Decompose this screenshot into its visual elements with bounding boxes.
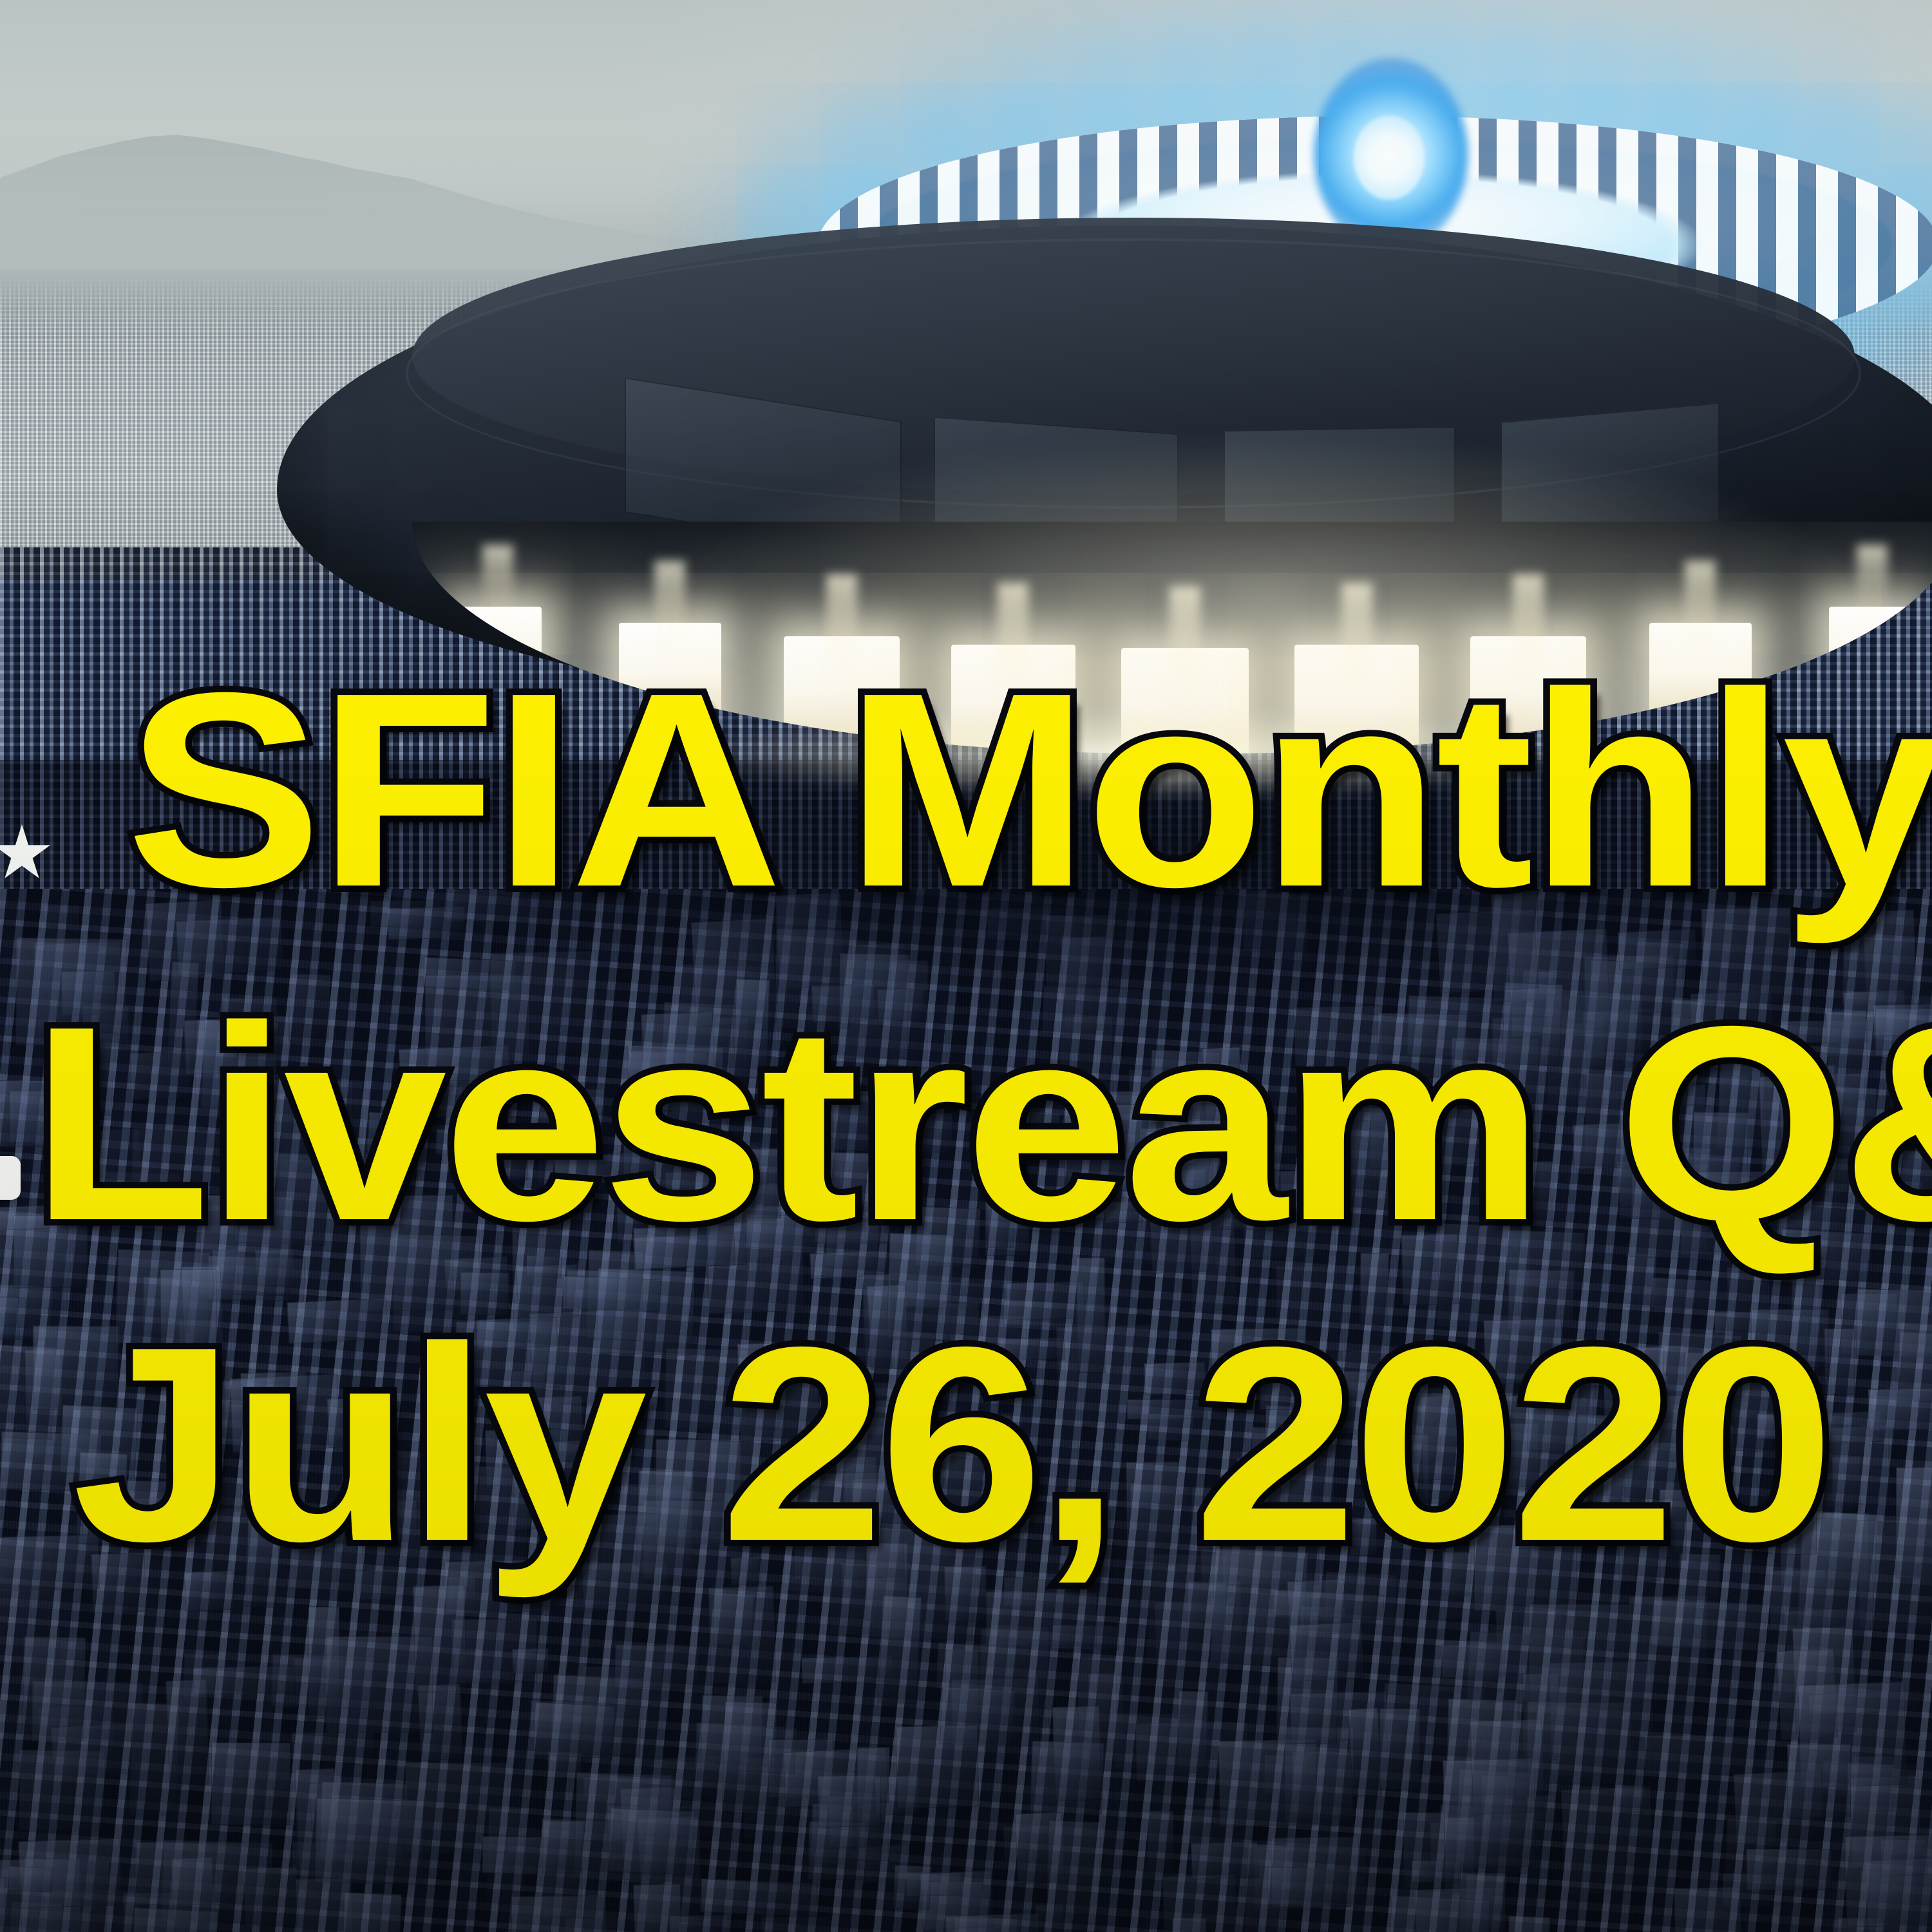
saucer-underglow <box>676 708 1610 805</box>
flying-saucer <box>277 77 1932 889</box>
edge-marker-icon <box>0 1156 21 1200</box>
saucer-beacon-core <box>1354 116 1425 200</box>
video-thumbnail: SFIA Monthly Livestream Q&A July 26, 202… <box>0 0 1932 1932</box>
